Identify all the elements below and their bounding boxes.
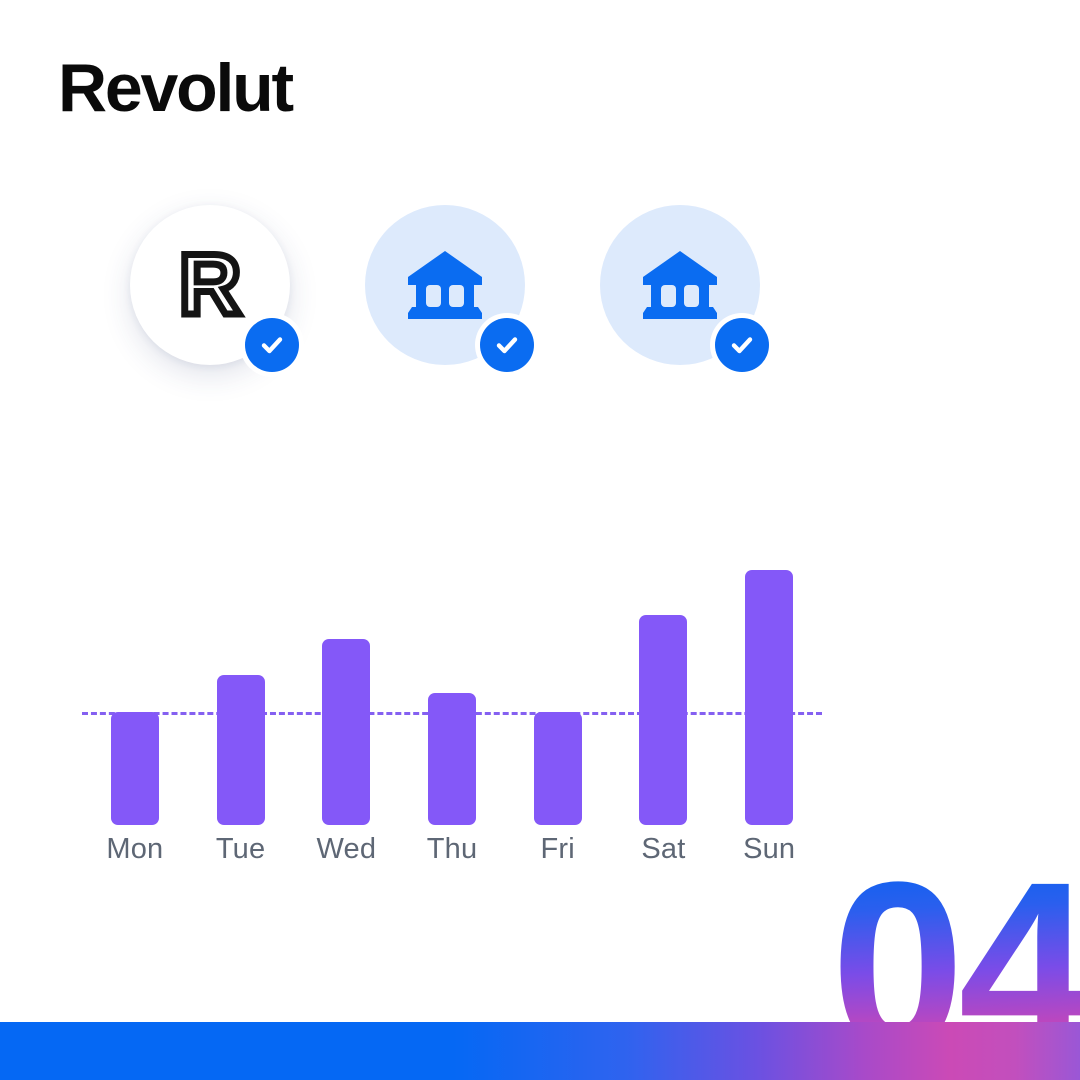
card-canvas: Revolut R xyxy=(0,0,1080,1080)
chart-x-axis-labels: MonTueWedThuFriSatSun xyxy=(82,833,822,866)
linked-accounts-row: R xyxy=(130,205,760,365)
check-icon xyxy=(491,329,523,361)
brand-wordmark: Revolut xyxy=(58,54,292,122)
footer-gradient-bar xyxy=(0,1022,1080,1080)
check-icon xyxy=(726,329,758,361)
chart-bar[interactable] xyxy=(111,712,159,825)
account-badge-bank-2[interactable] xyxy=(600,205,760,365)
chart-bar-slot[interactable] xyxy=(399,545,505,825)
verified-badge xyxy=(710,313,774,377)
chart-x-label: Wed xyxy=(293,833,399,866)
chart-x-label: Fri xyxy=(505,833,611,866)
chart-x-label: Thu xyxy=(399,833,505,866)
account-badge-bank-1[interactable] xyxy=(365,205,525,365)
chart-bar-slot[interactable] xyxy=(293,545,399,825)
chart-plot-area xyxy=(82,545,822,825)
chart-x-label: Tue xyxy=(188,833,294,866)
chart-bar-slot[interactable] xyxy=(505,545,611,825)
bank-icon xyxy=(639,247,721,323)
chart-x-label: Sun xyxy=(716,833,822,866)
chart-bars xyxy=(82,545,822,825)
chart-bar-slot[interactable] xyxy=(188,545,294,825)
chart-x-label: Mon xyxy=(82,833,188,866)
check-icon xyxy=(256,329,288,361)
chart-bar[interactable] xyxy=(428,693,476,825)
chart-bar[interactable] xyxy=(322,639,370,825)
chart-bar[interactable] xyxy=(217,675,265,825)
verified-badge xyxy=(475,313,539,377)
chart-x-label: Sat xyxy=(611,833,717,866)
account-badge-revolut[interactable]: R xyxy=(130,205,290,365)
chart-bar[interactable] xyxy=(745,570,793,825)
chart-bar[interactable] xyxy=(534,712,582,825)
weekly-spending-chart: MonTueWedThuFriSatSun xyxy=(82,545,822,885)
chart-bar[interactable] xyxy=(639,615,687,825)
chart-bar-slot[interactable] xyxy=(611,545,717,825)
verified-badge xyxy=(240,313,304,377)
chart-bar-slot[interactable] xyxy=(82,545,188,825)
revolut-r-logo-icon: R xyxy=(179,242,241,328)
chart-bar-slot[interactable] xyxy=(716,545,822,825)
bank-icon xyxy=(404,247,486,323)
